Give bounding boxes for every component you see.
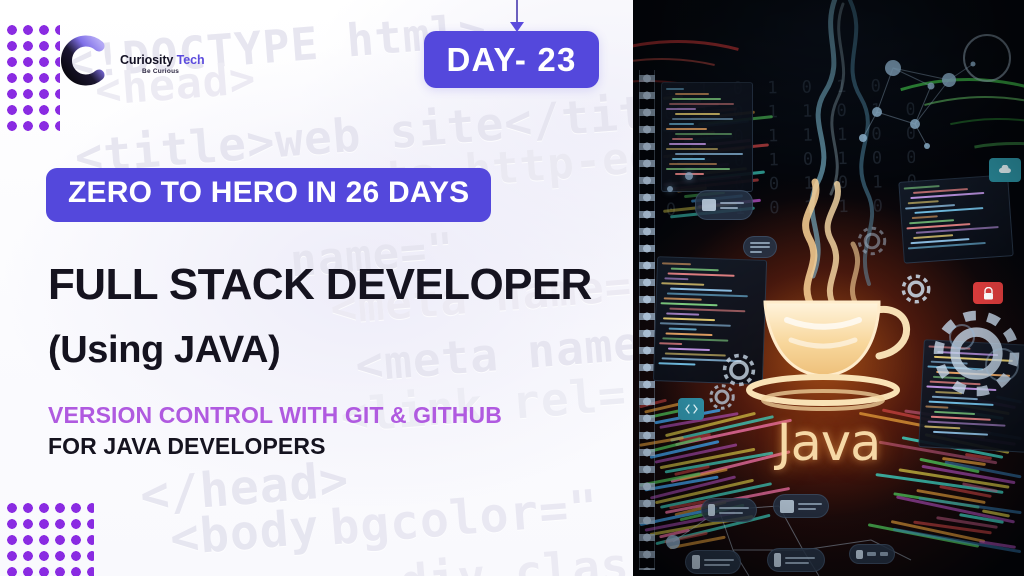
code-line xyxy=(672,118,733,120)
code-line xyxy=(671,268,719,272)
code-line xyxy=(675,113,720,115)
watermark-line: bgcolor=" xyxy=(328,480,601,557)
watermark-line: </head> xyxy=(138,452,351,524)
code-line xyxy=(664,297,702,300)
day-badge: DAY- 23 xyxy=(424,31,599,88)
code-line xyxy=(675,93,709,95)
cloud-badge-icon xyxy=(989,158,1021,182)
decor-circle-outline xyxy=(963,34,1011,82)
topic-rest: FOR JAVA DEVELOPERS xyxy=(48,433,326,459)
brand-name: Curiosity Tech xyxy=(120,54,205,67)
code-line xyxy=(660,322,731,326)
topic-description: VERSION CONTROL WITH GIT & GITHUB FOR JA… xyxy=(48,400,518,461)
code-line xyxy=(672,98,721,100)
code-line xyxy=(666,88,684,90)
code-line xyxy=(675,133,732,135)
left-content-panel: <!DOCTYPE html> <head> <title>web site</… xyxy=(0,0,633,576)
network-node xyxy=(667,186,673,192)
ui-node-card xyxy=(743,236,777,258)
watermark-line: div class xyxy=(398,535,633,576)
decor-circle-outline xyxy=(949,324,975,350)
code-line xyxy=(669,328,697,331)
page-title: FULL STACK DEVELOPER xyxy=(48,262,592,308)
pointer-arrow-line xyxy=(516,0,518,24)
java-artwork-panel: 1 1 0 1 0 1 0 0 1 0 1 1 0 1 0 1 0 0 1 1 … xyxy=(633,0,1024,576)
code-line xyxy=(669,143,706,145)
code-line xyxy=(663,317,715,321)
code-line xyxy=(665,332,712,336)
topic-highlight: VERSION CONTROL WITH GIT & GITHUB xyxy=(48,402,502,428)
page-subtitle: (Using JAVA) xyxy=(48,330,280,372)
watermark-line: <meta name= xyxy=(353,314,633,393)
code-line xyxy=(669,103,734,105)
code-line xyxy=(661,282,704,285)
code-line xyxy=(672,158,705,160)
code-line xyxy=(664,277,688,280)
code-line xyxy=(666,108,696,110)
brand-logo: Curiosity Tech Be Curious xyxy=(55,31,205,89)
code-line xyxy=(666,168,730,170)
code-line xyxy=(659,342,682,345)
network-node xyxy=(685,172,693,180)
brand-name-part1: Curiosity xyxy=(120,53,177,67)
brand-name-part2: Tech xyxy=(177,53,205,67)
code-line xyxy=(661,302,718,306)
code-line xyxy=(662,337,728,341)
gear-icon xyxy=(899,272,933,306)
code-line xyxy=(669,123,694,125)
code-line xyxy=(666,312,699,315)
course-promo-banner: <!DOCTYPE html> <head> <title>web site</… xyxy=(0,0,1024,576)
code-line xyxy=(662,262,691,265)
ui-node-card xyxy=(701,498,757,522)
code-line xyxy=(666,128,707,130)
code-line xyxy=(658,362,695,365)
brand-tagline: Be Curious xyxy=(142,69,205,76)
gear-icon xyxy=(707,382,737,412)
brand-logo-text: Curiosity Tech Be Curious xyxy=(120,45,205,76)
decor-circle-outline xyxy=(985,348,1019,382)
code-line xyxy=(669,163,717,165)
code-line xyxy=(672,138,693,140)
code-line xyxy=(665,352,726,356)
dot-grid-bottom-left xyxy=(4,500,94,576)
gear-icon xyxy=(855,224,889,258)
filmstrip-holes xyxy=(642,70,652,570)
ui-node-card xyxy=(685,550,741,574)
java-wordmark: Java xyxy=(633,414,1024,473)
code-line xyxy=(675,153,743,155)
curiosity-tech-c-logo-icon xyxy=(55,31,113,89)
ui-node-card xyxy=(849,544,895,564)
code-line xyxy=(666,148,718,150)
ui-node-card xyxy=(767,548,825,572)
code-line xyxy=(668,348,710,351)
code-line xyxy=(668,272,735,276)
ui-node-card xyxy=(695,190,753,220)
dot-grid-top-left xyxy=(4,22,60,132)
code-line xyxy=(670,288,732,292)
series-badge: ZERO TO HERO IN 26 DAYS xyxy=(46,168,491,222)
code-editor-panel xyxy=(661,82,753,192)
security-lock-badge-icon xyxy=(973,282,1003,304)
watermark-line: <body xyxy=(168,499,321,567)
ui-node-card xyxy=(773,494,829,518)
